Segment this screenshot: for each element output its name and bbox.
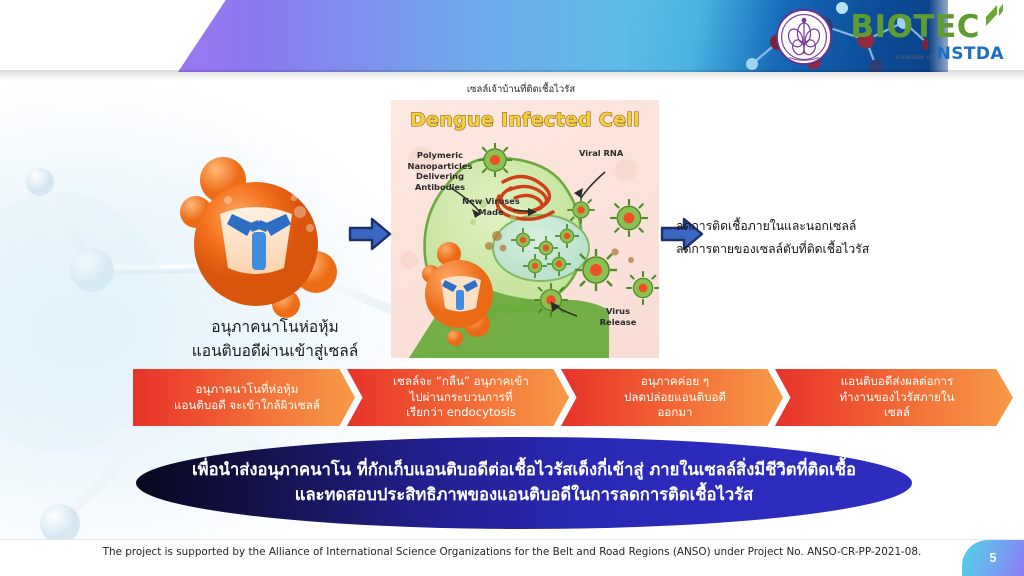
step-line-2: ไปผ่านกระบวนการที่ xyxy=(393,390,529,406)
label-line-4: Antibodies xyxy=(397,182,483,193)
step-line-1: แอนติบอดีส่งผลต่อการ xyxy=(840,374,955,390)
step-line-1: อนุภาคนาโนที่ห่อหุ้ม xyxy=(174,382,320,398)
step-line-3: เซลล์ xyxy=(840,405,955,421)
right-arrow-icon xyxy=(348,216,392,252)
biotec-swoosh-icon xyxy=(982,3,1006,29)
nstda-wordmark: NSTDA xyxy=(937,46,1004,63)
nanoparticle-caption: อนุภาคนาโนห่อหุ้ม แอนติบอดีผ่านเข้าสู่เซ… xyxy=(150,315,400,363)
label-line-3: Delivering xyxy=(397,171,483,182)
page-number-badge: 5 xyxy=(962,540,1024,576)
label-line-1: Virus xyxy=(587,306,649,317)
step-line-1: อนุภาคค่อย ๆ xyxy=(624,374,726,390)
process-step-2[interactable]: เซลล์จะ “กลืน” อนุภาคเข้า ไปผ่านกระบวนกา… xyxy=(347,369,569,426)
footer-divider xyxy=(0,539,1024,540)
label-polymeric-nanoparticles: Polymeric Nanoparticles Delivering Antib… xyxy=(397,150,483,192)
process-step-1[interactable]: อนุภาคนาโนที่ห่อหุ้ม แอนติบอดี จะเข้าใกล… xyxy=(133,369,355,426)
center-thai-caption: เซลล์เจ้าบ้านที่ติดเชื้อไวรัส xyxy=(388,82,654,97)
footer-funding-note: The project is supported by the Alliance… xyxy=(0,546,1024,558)
biotec-logo: BIOTEC a member of NSTDA xyxy=(850,12,1006,63)
objective-banner: เพื่อนำส่งอนุภาคนาโน ที่กักเก็บแอนติบอดี… xyxy=(136,437,912,529)
step-line-1: เซลล์จะ “กลืน” อนุภาคเข้า xyxy=(393,374,529,390)
outcome-line-1: ลดการติดเชื้อภายในและนอกเซลล์ xyxy=(676,215,936,238)
label-line-1: New Viruses xyxy=(453,196,529,207)
university-seal-icon xyxy=(776,9,832,65)
nanoparticle-caption-line2: แอนติบอดีผ่านเข้าสู่เซลล์ xyxy=(150,339,400,363)
step-line-2: ทำงานของไวรัสภายใน xyxy=(840,390,955,406)
process-step-4[interactable]: แอนติบอดีส่งผลต่อการ ทำงานของไวรัสภายใน … xyxy=(775,369,1013,426)
slide-root: BIOTEC a member of NSTDA xyxy=(0,0,1024,576)
outcome-line-2: ลดการตายของเซลล์ตับที่ติดเชื้อไวรัส xyxy=(676,238,936,261)
logo-group: BIOTEC a member of NSTDA xyxy=(776,6,1006,68)
label-new-viruses-made: New Viruses Made xyxy=(453,196,529,217)
process-step-3[interactable]: อนุภาคค่อย ๆ ปลดปล่อยแอนติบอดี ออกมา xyxy=(561,369,783,426)
banner-line-2: และทดสอบประสิทธิภาพของแอนติบอดีในการลดกา… xyxy=(295,483,753,508)
header-shadow xyxy=(0,70,1024,80)
step-line-2: แอนติบอดี จะเข้าใกล้ผิวเซลล์ xyxy=(174,398,320,414)
step-line-3: ออกมา xyxy=(624,405,726,421)
slide-header: BIOTEC a member of NSTDA xyxy=(0,0,1024,72)
label-line-2: Nanoparticles xyxy=(397,161,483,172)
banner-line-1: เพื่อนำส่งอนุภาคนาโน ที่กักเก็บแอนติบอดี… xyxy=(192,458,856,483)
process-chevron-row: อนุภาคนาโนที่ห่อหุ้ม แอนติบอดี จะเข้าใกล… xyxy=(133,369,1013,426)
dengue-infected-cell-panel: Dengue Infected Cell xyxy=(391,100,659,358)
label-virus-release: Virus Release xyxy=(587,306,649,327)
nanoparticle-caption-line1: อนุภาคนาโนห่อหุ้ม xyxy=(150,315,400,339)
label-line-2: Release xyxy=(587,317,649,328)
nstda-member-label: a member of xyxy=(895,55,933,62)
outcome-text: ลดการติดเชื้อภายในและนอกเซลล์ ลดการตายขอ… xyxy=(676,215,936,260)
label-line-1: Polymeric xyxy=(397,150,483,161)
step-line-2: ปลดปล่อยแอนติบอดี xyxy=(624,390,726,406)
nanoparticle-antibody-icon xyxy=(168,152,358,327)
label-viral-rna: Viral RNA xyxy=(579,148,623,159)
biotec-wordmark: BIOTEC xyxy=(850,12,980,43)
step-line-3: เรียกว่า endocytosis xyxy=(393,405,529,421)
label-line-2: Made xyxy=(453,207,529,218)
